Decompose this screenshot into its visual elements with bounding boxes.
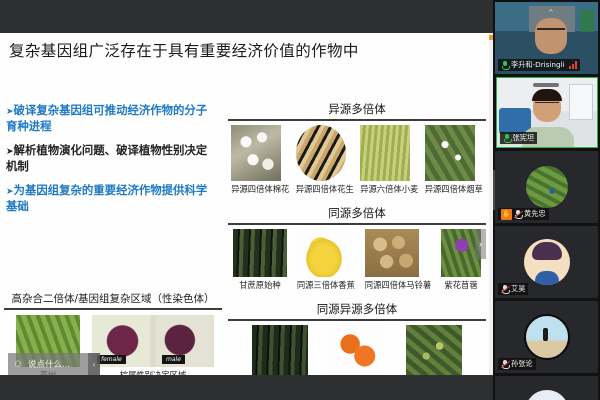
slide-figure-banana: 同源三倍体香蕉	[297, 229, 355, 291]
microphone-muted-icon	[501, 285, 509, 294]
glasses-icon	[535, 102, 559, 108]
participant-label-2: ✋ 黄先忠	[498, 208, 549, 220]
microphone-icon	[503, 134, 511, 143]
participant-label-3: 艾昊	[498, 283, 528, 295]
slide-figure-potato: 同源四倍体马铃薯	[365, 229, 431, 291]
bullet-arrow-icon: ➤	[6, 147, 14, 157]
section-divider	[4, 308, 222, 310]
figure-caption-sugarcane-wild: 甘蔗原始种	[233, 279, 287, 291]
participant-name-0: 李升和-Drisingli	[511, 60, 565, 70]
slide-figure-sex-chromosome: female male 棕属性别决定区域	[92, 315, 214, 375]
sweet-potato-photo	[330, 325, 386, 375]
figure-caption-wheat: 异源六倍体小麦	[360, 183, 418, 195]
slide-section-auto-allopolyploid: 同源异源多倍体 甘蔗现代栽培种 六倍体甘薯 六倍体油茶	[228, 301, 486, 375]
bullet-arrow-icon: ➤	[6, 187, 14, 197]
figure-caption-banana: 同源三倍体香蕉	[297, 279, 355, 291]
participant-label-4: 孙张论	[498, 358, 536, 370]
stage-bottom-bar	[0, 375, 493, 400]
participant-tile-2[interactable]: ✋ 黄先忠	[495, 151, 598, 223]
bullet-item-3: ➤为基因组复杂的重要经济作物提供科学基础	[6, 183, 218, 214]
glasses-icon	[537, 28, 565, 36]
figure-caption-cotton: 异源四倍体棉花	[231, 183, 289, 195]
section-items-row: 甘蔗现代栽培种 六倍体甘薯 六倍体油茶	[228, 325, 486, 375]
participant-tile-5[interactable]: ⌄	[495, 376, 598, 400]
participant-name-1: 张宪坦	[513, 133, 535, 143]
signal-bars-icon	[569, 61, 577, 69]
slide-figure-tobacco: 异源四倍体烟草	[425, 125, 483, 195]
tobacco-photo	[425, 125, 475, 181]
slide-figure-oil-tea: 六倍体油茶	[406, 325, 462, 375]
shared-slide: 复杂基因组广泛存在于具有重要经济价值的作物中 ➤破译复杂基因组可推动经济作物的分…	[0, 33, 489, 375]
section-divider	[228, 319, 486, 321]
peanut-photo	[296, 125, 346, 181]
chevron-left-icon[interactable]: ‹	[88, 353, 100, 375]
figure-caption-alfalfa: 紫花苜蓿	[441, 279, 481, 291]
microphone-muted-icon	[514, 210, 522, 219]
participant-hair	[532, 89, 562, 101]
bullet-text-3: 为基因组复杂的重要经济作物提供科学基础	[6, 183, 207, 213]
participant-avatar-5	[525, 390, 569, 400]
participant-label-0: 李升和-Drisingli	[498, 59, 580, 71]
participant-face	[535, 18, 567, 54]
slide-figure-sweet-potato: 六倍体甘薯	[330, 325, 386, 375]
slide-title: 复杂基因组广泛存在于具有重要经济价值的作物中	[9, 39, 359, 61]
participant-rail[interactable]: ^ 李升和-Drisingli	[493, 0, 600, 400]
figure-caption-tobacco: 异源四倍体烟草	[425, 183, 483, 195]
section-items-row: 甘蔗原始种 同源三倍体香蕉 同源四倍体马铃薯 紫花苜蓿	[228, 229, 486, 291]
cotton-photo	[231, 125, 281, 181]
figure-caption-sex-region: 棕属性别决定区域	[92, 369, 214, 375]
chevron-up-icon[interactable]: ^	[549, 8, 553, 17]
potato-photo	[365, 229, 419, 277]
bullet-item-2: ➤解析植物演化问题、破译植物性别决定机制	[6, 143, 218, 174]
participant-avatar-2	[526, 166, 568, 208]
figure-caption-peanut: 异源四倍体花生	[296, 183, 354, 195]
participant-label-1: 张宪坦	[500, 132, 538, 144]
participant-avatar-4	[524, 314, 570, 360]
smiley-icon[interactable]: ☺	[8, 353, 28, 375]
oil-tea-photo	[406, 325, 462, 375]
microphone-icon	[501, 61, 509, 70]
sex-determination-region-photo: female male	[92, 315, 214, 367]
participant-tile-3[interactable]: 艾昊	[495, 226, 598, 298]
chevron-right-icon[interactable]: ›	[475, 229, 486, 259]
wheat-photo	[360, 125, 410, 181]
chat-input-overlay[interactable]: ☺ 说点什么... ‹	[8, 353, 100, 375]
slide-section-allopolyploid: 异源多倍体 异源四倍体棉花 异源四倍体花生 异源六倍体小麦	[228, 101, 486, 195]
bullet-text-1: 破译复杂基因组可推动经济作物的分子育种进程	[6, 103, 207, 133]
sugarcane-wild-photo	[233, 229, 287, 277]
slide-figure-wheat: 异源六倍体小麦	[360, 125, 418, 195]
participant-name-3: 艾昊	[511, 284, 525, 294]
bullet-item-1: ➤破译复杂基因组可推动经济作物的分子育种进程	[6, 103, 218, 134]
section-divider	[228, 223, 486, 225]
participant-tile-4[interactable]: 孙张论	[495, 301, 598, 373]
bullet-text-2: 解析植物演化问题、破译植物性别决定机制	[6, 143, 207, 173]
participant-tile-1[interactable]: 张宪坦	[496, 77, 598, 148]
section-items-row: 异源四倍体棉花 异源四倍体花生 异源六倍体小麦 异源四倍体烟草	[228, 125, 486, 195]
participant-name-2: 黄先忠	[524, 209, 546, 219]
background-ac	[533, 83, 559, 87]
conference-window: 复杂基因组广泛存在于具有重要经济价值的作物中 ➤破译复杂基因组可推动经济作物的分…	[0, 0, 600, 400]
screen-share-stage: 复杂基因组广泛存在于具有重要经济价值的作物中 ➤破译复杂基因组可推动经济作物的分…	[0, 0, 493, 400]
label-female: female	[97, 355, 126, 364]
microphone-muted-icon	[501, 360, 509, 369]
bullet-arrow-icon: ➤	[6, 107, 14, 117]
participant-tile-0[interactable]: ^ 李升和-Drisingli	[495, 2, 598, 74]
banana-photo	[297, 229, 351, 277]
label-male: male	[162, 355, 185, 364]
slide-figure-peanut: 异源四倍体花生	[296, 125, 354, 195]
section-divider	[228, 119, 486, 121]
section-heading-allopolyploid: 异源多倍体	[228, 101, 486, 119]
slide-figure-sugarcane-modern: 甘蔗现代栽培种	[252, 325, 310, 375]
raise-hand-icon: ✋	[501, 209, 512, 220]
section-heading-autopolyploid: 同源多倍体	[228, 205, 486, 223]
slide-bullet-list: ➤破译复杂基因组可推动经济作物的分子育种进程 ➤解析植物演化问题、破译植物性别决…	[6, 103, 218, 222]
slide-figure-sugarcane-wild: 甘蔗原始种	[233, 229, 287, 291]
chat-input-placeholder[interactable]: 说点什么...	[28, 358, 88, 370]
background-window	[569, 84, 593, 120]
slide-figure-cotton: 异源四倍体棉花	[231, 125, 289, 195]
sugarcane-modern-photo	[252, 325, 308, 375]
slide-section-autopolyploid: 同源多倍体 甘蔗原始种 同源三倍体香蕉 同源四倍体马铃薯	[228, 205, 486, 291]
participant-avatar-3	[524, 239, 570, 285]
rail-scrollbar[interactable]	[493, 170, 495, 210]
participant-name-4: 孙张论	[511, 359, 533, 369]
background-object	[580, 10, 594, 32]
figure-caption-potato: 同源四倍体马铃薯	[365, 279, 431, 291]
section-heading-auto-allopolyploid: 同源异源多倍体	[228, 301, 486, 319]
stage-top-bar	[0, 0, 493, 33]
section-heading-heterozygous: 高杂合二倍体/基因组复杂区域（性染色体）	[4, 291, 222, 308]
